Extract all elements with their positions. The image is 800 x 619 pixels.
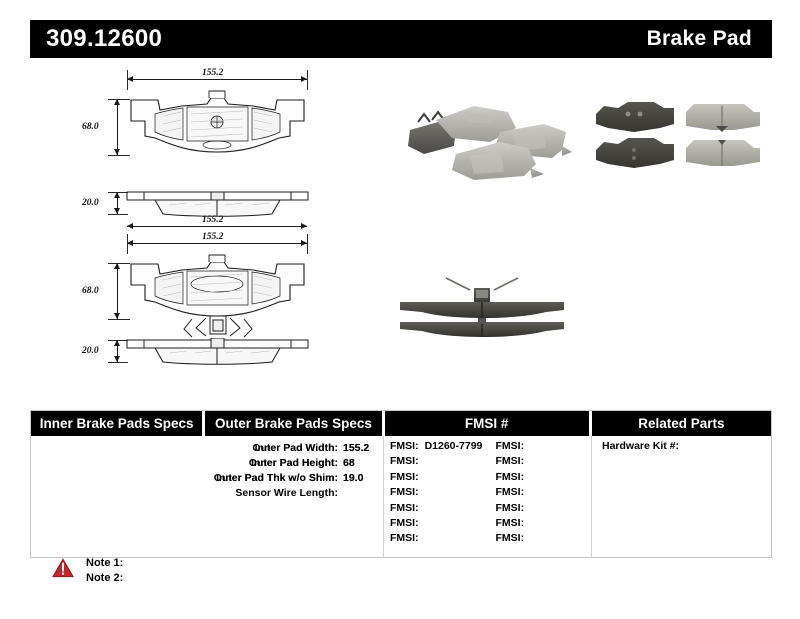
inner-pad-thickness-dim: 20.0 — [82, 198, 99, 208]
dim-line-side-width — [127, 226, 307, 227]
fmsi-label: FMSI: — [390, 470, 419, 485]
outer-pad-height-dim: 68.0 — [82, 286, 99, 296]
illustration-area: 155.2 68.0 20.0 155.2 — [0, 62, 800, 392]
dim-arrow — [127, 76, 133, 82]
dim-line-width — [127, 243, 307, 244]
dim-line-width — [127, 79, 307, 80]
fmsi-value — [524, 454, 530, 469]
table-header-inner-specs: Inner Brake Pads Specs — [31, 411, 202, 436]
fmsi-row: FMSI: FMSI: — [384, 516, 591, 531]
fmsi-label: FMSI: — [390, 531, 419, 546]
fmsi-value — [524, 470, 530, 485]
related-parts-row: Hardware Kit #: — [592, 436, 771, 454]
fmsi-entry-left: FMSI: — [384, 516, 491, 531]
spec-table: Inner Brake Pads Specs Outer Brake Pads … — [30, 410, 772, 558]
fmsi-label: FMSI: — [495, 516, 524, 531]
fmsi-label: FMSI: — [495, 531, 524, 546]
brake-pad-photo-angled — [404, 98, 576, 184]
spec-value: 68 — [338, 456, 377, 471]
brake-pad-photo-edge-pair — [396, 272, 572, 344]
inner-pad-height-dim: 68.0 — [82, 122, 99, 132]
dim-arrow — [114, 99, 120, 105]
spec-row: Outer Pad Thk w/o Shim: 19.0 — [207, 471, 383, 486]
title-bar: 309.12600 Brake Pad — [30, 20, 772, 58]
dim-arrow — [127, 240, 133, 246]
fmsi-label: FMSI: — [495, 439, 524, 454]
fmsi-row: FMSI: FMSI: — [384, 485, 591, 500]
dim-ext-line — [307, 234, 308, 254]
fmsi-value — [419, 485, 425, 500]
inner-pad-face-drawing — [125, 86, 310, 164]
fmsi-row: FMSI: FMSI: — [384, 454, 591, 469]
fmsi-label: FMSI: — [495, 485, 524, 500]
dim-arrow — [127, 223, 133, 229]
dim-arrow — [301, 240, 307, 246]
dim-ext-line — [108, 214, 128, 215]
fmsi-value — [524, 516, 530, 531]
fmsi-entry-right: FMSI: — [491, 470, 591, 485]
fmsi-value — [419, 470, 425, 485]
spec-label: Outer Pad Thk w/o Shim: — [214, 471, 338, 486]
inner-pad-side-drawing — [125, 190, 310, 218]
fmsi-label: FMSI: — [390, 516, 419, 531]
fmsi-entry-left: FMSI: — [384, 501, 491, 516]
product-type-label: Brake Pad — [647, 27, 752, 51]
dim-arrow — [114, 313, 120, 319]
dim-ext-line — [108, 155, 130, 156]
outer-pad-side-drawing — [125, 338, 310, 366]
fmsi-value — [524, 501, 530, 516]
fmsi-value — [419, 501, 425, 516]
fmsi-entry-right: FMSI: — [491, 439, 591, 454]
note-2: Note 2: — [86, 571, 123, 586]
dim-arrow — [114, 208, 120, 214]
fmsi-value — [419, 516, 425, 531]
note-list: Note 1: Note 2: — [86, 556, 123, 586]
related-parts-column: Hardware Kit #: — [592, 436, 771, 558]
fmsi-entry-right: FMSI: — [491, 516, 591, 531]
fmsi-entry-right: FMSI: — [491, 454, 591, 469]
spec-label: Outer Pad Width: — [252, 441, 338, 456]
dim-arrow — [301, 76, 307, 82]
fmsi-label: FMSI: — [390, 454, 419, 469]
fmsi-entry-right: FMSI: — [491, 485, 591, 500]
outer-pad-width-dim: 155.2 — [202, 232, 223, 242]
fmsi-row: FMSI: FMSI: — [384, 470, 591, 485]
fmsi-entry-right: FMSI: — [491, 501, 591, 516]
fmsi-value — [524, 531, 530, 546]
table-body: Inner Pad Width: 155.2 Inner Pad Height:… — [31, 436, 771, 558]
dim-line-height — [117, 263, 118, 319]
spec-row: Outer Pad Width: 155.2 — [207, 441, 383, 456]
dim-arrow — [114, 192, 120, 198]
fmsi-entry-left: FMSI: D1260-7799 — [384, 439, 491, 454]
notes-section: Note 1: Note 2: — [52, 556, 123, 586]
fmsi-value — [419, 454, 425, 469]
table-header-row: Inner Brake Pads Specs Outer Brake Pads … — [31, 411, 771, 436]
fmsi-label: FMSI: — [495, 470, 524, 485]
fmsi-value — [524, 485, 530, 500]
fmsi-label: FMSI: — [495, 454, 524, 469]
dim-arrow — [114, 149, 120, 155]
spec-value: 19.0 — [338, 471, 377, 486]
dim-arrow — [114, 340, 120, 346]
table-header-fmsi: FMSI # — [385, 411, 589, 436]
fmsi-row: FMSI: FMSI: — [384, 501, 591, 516]
brake-pad-photo-four-up — [594, 98, 766, 184]
fmsi-entry-left: FMSI: — [384, 485, 491, 500]
fmsi-label: FMSI: — [390, 501, 419, 516]
dim-ext-line — [108, 319, 130, 320]
inner-pad-side-width-dim: 155.2 — [202, 215, 223, 225]
outer-pad-clip-drawing — [180, 314, 256, 340]
fmsi-entry-right: FMSI: — [491, 531, 591, 546]
part-number: 309.12600 — [46, 25, 162, 53]
spec-value: 155.2 — [338, 441, 377, 456]
fmsi-entry-left: FMSI: — [384, 470, 491, 485]
spec-label: Outer Pad Height: — [249, 456, 338, 471]
hardware-kit-label: Hardware Kit #: — [602, 440, 679, 452]
dim-arrow — [301, 223, 307, 229]
dim-arrow — [114, 356, 120, 362]
table-header-outer-specs: Outer Brake Pads Specs — [205, 411, 381, 436]
dim-line-height — [117, 99, 118, 155]
fmsi-value: D1260-7799 — [419, 439, 483, 454]
table-header-related-parts: Related Parts — [592, 411, 771, 436]
dim-arrow — [114, 263, 120, 269]
fmsi-label: FMSI: — [390, 439, 419, 454]
fmsi-row: FMSI: FMSI: — [384, 531, 591, 546]
fmsi-value — [524, 439, 530, 454]
outer-pad-thickness-dim: 20.0 — [82, 346, 99, 356]
fmsi-entry-left: FMSI: — [384, 531, 491, 546]
fmsi-row: FMSI: D1260-7799 FMSI: — [384, 439, 591, 454]
fmsi-column: FMSI: D1260-7799 FMSI: FMSI: FMSI: — [384, 436, 591, 558]
warning-triangle-icon — [52, 558, 74, 578]
fmsi-entry-left: FMSI: — [384, 454, 491, 469]
dim-ext-line — [108, 362, 128, 363]
inner-pad-width-dim: 155.2 — [202, 68, 223, 78]
fmsi-label: FMSI: — [390, 485, 419, 500]
fmsi-label: FMSI: — [495, 501, 524, 516]
note-1: Note 1: — [86, 556, 123, 571]
fmsi-value — [419, 531, 425, 546]
dim-ext-line — [307, 70, 308, 90]
spec-row: Outer Pad Height: 68 — [207, 456, 383, 471]
outer-specs-column-text: Outer Pad Width: 155.2 Outer Pad Height:… — [207, 436, 383, 558]
